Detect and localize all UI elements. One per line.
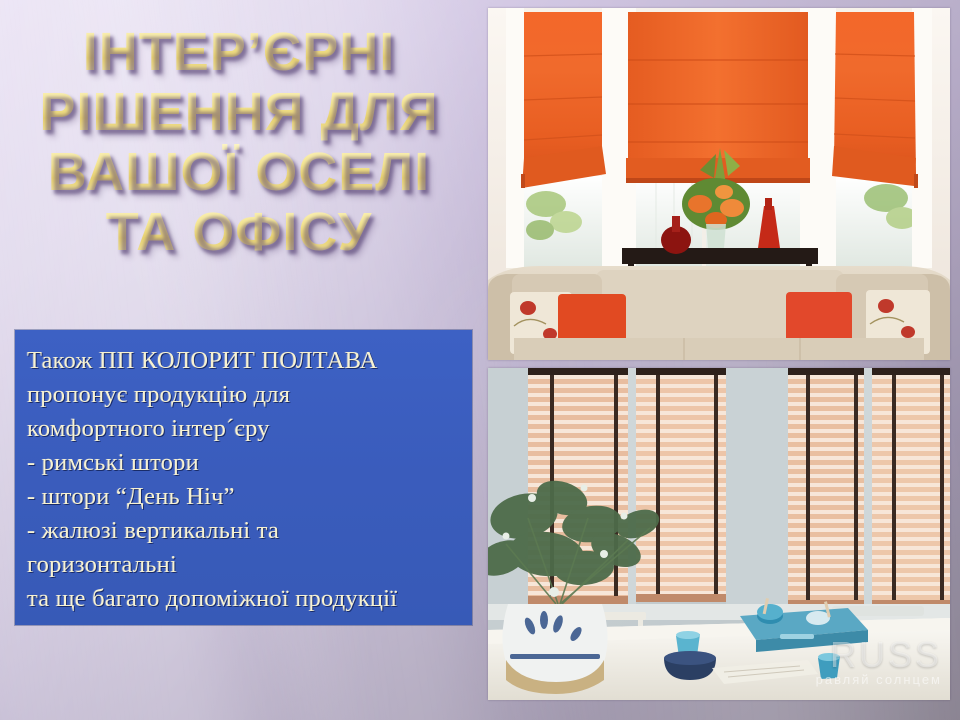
- info-line-offers: пропонує продукцію для: [27, 378, 464, 412]
- info-line-vertical-blinds: - жалюзі вертикальні та: [27, 514, 464, 548]
- info-panel-list: Також ПП КОЛОРИТ ПОЛТАВА пропонує продук…: [15, 330, 472, 616]
- photo-wooden-blinds: RUSS равляй солнцем: [488, 368, 950, 700]
- info-line-horizontal-blinds: горизонтальні: [27, 548, 464, 582]
- info-line-day-night-curtains: - штори “День Ніч”: [27, 480, 464, 514]
- title-line-2: РІШЕННЯ ДЛЯ: [0, 82, 478, 142]
- roman-blinds-illustration: [488, 8, 950, 360]
- page-title: ІНТЕР’ЄРНІ РІШЕННЯ ДЛЯ ВАШОЇ ОСЕЛІ ТА ОФ…: [0, 22, 478, 262]
- title-line-1: ІНТЕР’ЄРНІ: [0, 22, 478, 82]
- info-line-company: Також ПП КОЛОРИТ ПОЛТАВА: [27, 344, 464, 378]
- info-line-roman-curtains: - римські штори: [27, 446, 464, 480]
- presentation-slide: ІНТЕР’ЄРНІ РІШЕННЯ ДЛЯ ВАШОЇ ОСЕЛІ ТА ОФ…: [0, 0, 960, 720]
- info-line-more-products: та ще багато допоміжної продукції: [27, 582, 464, 616]
- info-panel: Також ПП КОЛОРИТ ПОЛТАВА пропонує продук…: [15, 330, 472, 625]
- photo-roman-blinds: [488, 8, 950, 360]
- title-line-4: ТА ОФІСУ: [0, 202, 478, 262]
- wooden-blinds-illustration: [488, 368, 950, 700]
- title-line-3: ВАШОЇ ОСЕЛІ: [0, 142, 478, 202]
- info-line-interior: комфортного інтер´єру: [27, 412, 464, 446]
